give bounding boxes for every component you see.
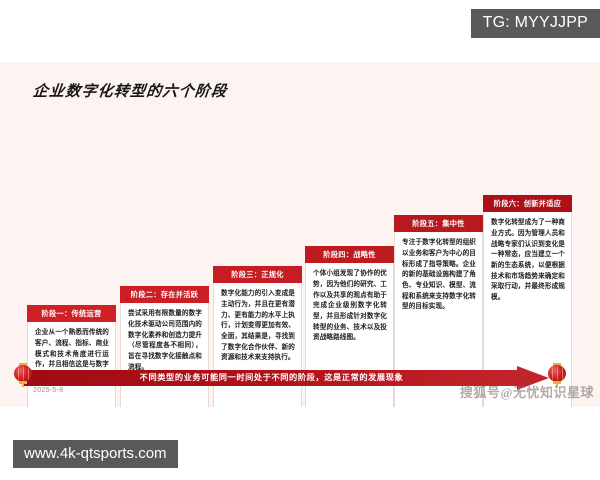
stage-header: 阶段四：战略性 bbox=[305, 246, 394, 263]
stage-header: 阶段六：创新并适应 bbox=[483, 195, 572, 212]
telegram-handle-badge: TG: MYYJJPP bbox=[471, 9, 600, 38]
stage-staircase: 阶段一：传统运营 企业从一个熟悉而传统的客户、流程、指标、商业模式和技术角度进行… bbox=[0, 62, 600, 364]
infographic-slide: 企业数字化转型的六个阶段 阶段一：传统运营 企业从一个熟悉而传统的客户、流程、指… bbox=[0, 62, 600, 407]
stage-card[interactable]: 阶段二：存在并活跃 尝试采用有限数量的数字化技术驱动公司范围内的数字化素养和创造… bbox=[120, 287, 209, 407]
website-url-badge: www.4k-qtsports.com bbox=[13, 440, 178, 468]
stage-card[interactable]: 阶段三：正规化 数字化能力的引入变成是主动行为，并且在更有潜力、更有能力的水平上… bbox=[213, 267, 302, 407]
stage-body: 企业从一个熟悉而传统的客户、流程、指标、商业模式和技术角度进行运作，并且相信这是… bbox=[28, 322, 115, 407]
stage-body: 数字化能力的引入变成是主动行为，并且在更有潜力、更有能力的水平上执行，计划变得更… bbox=[214, 283, 301, 407]
source-watermark: 搜狐号@无忧知识星球 bbox=[460, 382, 594, 401]
stage-header: 阶段一：传统运营 bbox=[27, 305, 116, 322]
lantern-icon bbox=[12, 362, 34, 386]
stage-header: 阶段三：正规化 bbox=[213, 266, 302, 283]
arrow-banner-text: 不同类型的业务可能同一时间处于不同的阶段，这是正常的发展现象 bbox=[24, 370, 519, 386]
stage-header: 阶段二：存在并活跃 bbox=[120, 286, 209, 303]
screenshot-root: TG: MYYJJPP 企业数字化转型的六个阶段 阶段一：传统运营 企业从一个熟… bbox=[0, 0, 600, 480]
stage-header: 阶段五：集中性 bbox=[394, 215, 483, 232]
slide-date: 2025-5-8 bbox=[33, 387, 63, 394]
stage-body: 尝试采用有限数量的数字化技术驱动公司范围内的数字化素养和创造力提升（尽管程度各不… bbox=[121, 303, 208, 407]
